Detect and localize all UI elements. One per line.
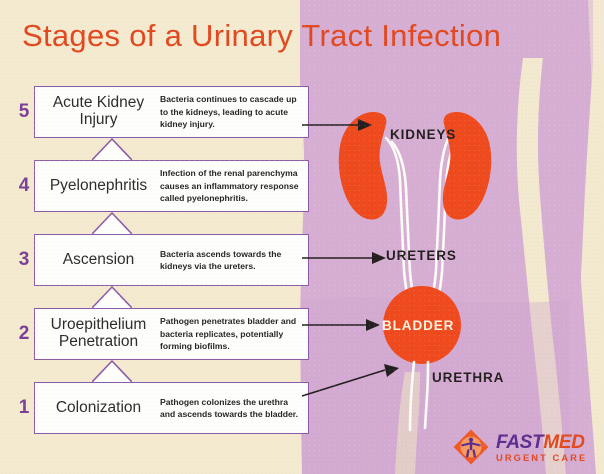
- chevron-up-icon: [92, 360, 132, 383]
- stage-box-4[interactable]: Pyelonephritis Infection of the renal pa…: [34, 160, 309, 212]
- label-kidneys: KIDNEYS: [390, 127, 456, 142]
- stage-title-2: Uroepithelium Penetration: [41, 317, 156, 350]
- stages-list: 5 Acute Kidney Injury Bacteria continues…: [14, 86, 309, 434]
- fastmed-logo[interactable]: FASTMED URGENT CARE: [452, 428, 587, 466]
- stage-description-3: Bacteria ascends towards the kidneys via…: [156, 248, 300, 273]
- stage-number-4: 4: [14, 175, 34, 197]
- stage-description-2: Pathogen penetrates bladder and bacteria…: [156, 315, 300, 352]
- stage-number-3: 3: [14, 249, 34, 271]
- stage-box-1[interactable]: Colonization Pathogen colonizes the uret…: [34, 382, 309, 434]
- logo-tagline: URGENT CARE: [496, 454, 587, 463]
- stage-description-1: Pathogen colonizes the urethra and ascen…: [156, 396, 300, 421]
- stage-title-3: Ascension: [41, 252, 156, 269]
- stage-box-3[interactable]: Ascension Bacteria ascends towards the k…: [34, 234, 309, 286]
- label-bladder: BLADDER: [382, 318, 454, 333]
- stage-description-5: Bacteria continues to cascade up to the …: [156, 93, 300, 130]
- label-ureters: URETERS: [386, 248, 457, 263]
- arrow-stage5-to-kidney: [300, 110, 380, 140]
- stage-row-3[interactable]: 3 Ascension Bacteria ascends towards the…: [14, 234, 309, 286]
- stage-title-4: Pyelonephritis: [41, 178, 156, 195]
- body-silhouette: [262, 0, 604, 474]
- arrow-stage2-to-bladder: [300, 310, 388, 340]
- logo-fast-text: FAST: [496, 432, 543, 453]
- infographic-canvas: Stages of a Urinary Tract Infection 5 Ac…: [0, 0, 604, 474]
- page-title: Stages of a Urinary Tract Infection: [22, 18, 501, 54]
- stage-title-1: Colonization: [41, 400, 156, 417]
- stage-title-5: Acute Kidney Injury: [41, 95, 156, 128]
- arrow-stage1-to-urethra: [300, 360, 406, 402]
- stage-number-1: 1: [14, 397, 34, 419]
- stage-number-5: 5: [14, 101, 34, 123]
- arrow-stage3-to-ureters: [300, 243, 395, 273]
- chevron-up-icon: [92, 212, 132, 235]
- logo-name: FASTMED: [496, 433, 587, 452]
- stage-row-2[interactable]: 2 Uroepithelium Penetration Pathogen pen…: [14, 308, 309, 360]
- stage-description-4: Infection of the renal parenchyma causes…: [156, 167, 300, 204]
- connector-gap-2-1: [14, 360, 309, 382]
- logo-med-text: MED: [543, 432, 584, 453]
- logo-wordmark: FASTMED URGENT CARE: [496, 431, 587, 463]
- chevron-up-icon: [92, 286, 132, 309]
- label-urethra: URETHRA: [432, 370, 504, 385]
- stage-row-4[interactable]: 4 Pyelonephritis Infection of the renal …: [14, 160, 309, 212]
- connector-gap-5-4: [14, 138, 309, 160]
- stage-row-5[interactable]: 5 Acute Kidney Injury Bacteria continues…: [14, 86, 309, 138]
- stage-box-5[interactable]: Acute Kidney Injury Bacteria continues t…: [34, 86, 309, 138]
- vitruvian-figure-diamond-icon: [452, 428, 490, 466]
- stage-box-2[interactable]: Uroepithelium Penetration Pathogen penet…: [34, 308, 309, 360]
- connector-gap-3-2: [14, 286, 309, 308]
- connector-gap-4-3: [14, 212, 309, 234]
- stage-number-2: 2: [14, 323, 34, 345]
- stage-row-1[interactable]: 1 Colonization Pathogen colonizes the ur…: [14, 382, 309, 434]
- chevron-up-icon: [92, 138, 132, 161]
